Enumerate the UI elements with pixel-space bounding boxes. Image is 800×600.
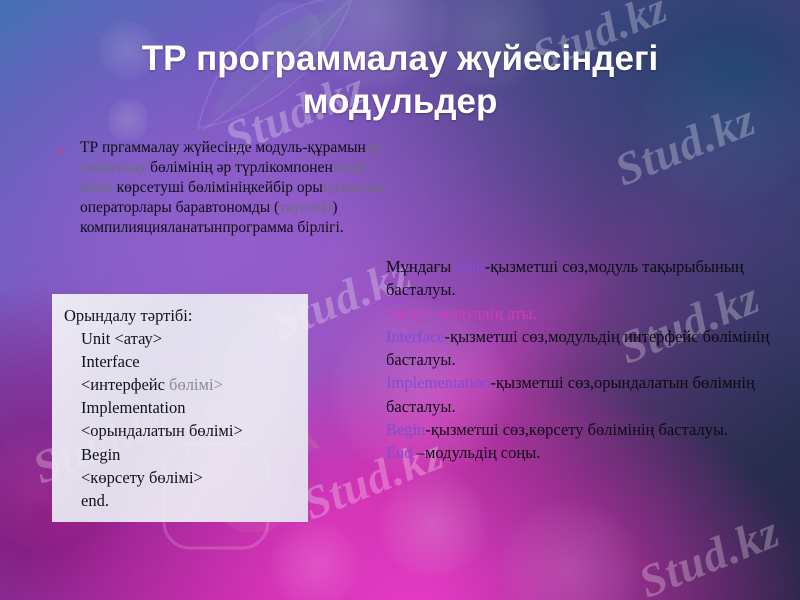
explanation-keyword: Implementation [386, 373, 490, 392]
explanation-keyword: Begin [386, 420, 425, 439]
explanation-prefix: Мұндағы [386, 257, 455, 276]
explanation-keyword: End [386, 443, 413, 462]
bokeh-circle [270, 520, 360, 600]
page-title-line-2: модульдер [40, 81, 760, 124]
page-title: ТР программалау жүйесіндегі модульдер [40, 38, 760, 123]
bullet-text-segment: автономды ( [198, 199, 279, 216]
bullet-block: ТР пргаммалау жүйесінде модуль-құрамында… [58, 138, 388, 238]
explanation-block: Мұндағы Unit-қызметші сөз,модуль тақырыб… [386, 255, 786, 464]
explanation-keyword: <атау>-модулдің аты. [386, 304, 537, 323]
presentation-slide: Stud.kzStud.kzStud.kzStud.kzStud.kzStud.… [0, 0, 800, 600]
stud-kz-watermark: Stud.kz [631, 505, 787, 600]
bullet-text-segment: ндалатын [323, 179, 386, 196]
bokeh-circle [378, 470, 488, 580]
square-bullet-icon [58, 148, 63, 153]
page-title-line-1: ТР программалау жүйесіндегі [40, 38, 760, 81]
syntax-code-box: Орындалу тәртібі: Unit <атау>Interface<и… [52, 294, 308, 522]
syntax-line-text-dim: бөлімі> [169, 375, 223, 394]
syntax-line: Interface [64, 350, 298, 373]
syntax-line: <көрсету бөлімі> [64, 466, 298, 489]
explanation-entry: <атау>-модулдің аты. [386, 302, 786, 325]
explanation-entry: Implementation-қызметші сөз,орындалатын … [386, 371, 786, 418]
explanation-entry: End –модульдің соңы. [386, 441, 786, 464]
bullet-text-segment: программа бірлігі. [222, 219, 343, 236]
bullet-text-segment: компонен [269, 159, 333, 176]
bullet-paragraph: ТР пргаммалау жүйесінде модуль-құрамында… [80, 138, 388, 238]
syntax-line: <орындалатын бөлімі> [64, 419, 298, 442]
bullet-text-segment: ТР пргаммалау жүйесінде модуль- [80, 139, 307, 156]
syntax-line: Begin [64, 443, 298, 466]
bullet-text-segment: құрамын [307, 139, 365, 156]
syntax-line-list: Unit <атау>Interface<интерфейс бөлімі>Im… [64, 327, 298, 512]
explanation-body: -қызметші сөз,көрсету бөлімінің басталуы… [425, 420, 728, 439]
explanation-entry: Interface-қызметші сөз,модульдің интерфе… [386, 325, 786, 372]
syntax-line-text: <интерфейс [81, 375, 169, 394]
explanation-entry: Мұндағы Unit-қызметші сөз,модуль тақырыб… [386, 255, 786, 302]
syntax-line: end. [64, 489, 298, 512]
explanation-entry: Begin-қызметші сөз,көрсету бөлімінің бас… [386, 418, 786, 441]
syntax-line: Unit <атау> [64, 327, 298, 350]
explanation-keyword: Interface [386, 327, 445, 346]
syntax-line: <интерфейс бөлімі> [64, 373, 298, 396]
bokeh-circle [500, 500, 640, 600]
bullet-text-segment: операторлары бар [80, 199, 198, 216]
syntax-box-heading: Орындалу тәртібі: [64, 304, 298, 327]
explanation-keyword: Unit [455, 257, 484, 276]
explanation-body: –модульдің соңы. [413, 443, 541, 462]
bullet-text-segment: бөлімінің әр түрлі [146, 159, 269, 176]
syntax-line: Implementation [64, 396, 298, 419]
bullet-text-segment: тәуелсіз [279, 199, 332, 216]
bullet-text-segment: кейбір оры [251, 179, 323, 196]
bullet-text-segment: көрсетуші бөлімінің [113, 179, 251, 196]
